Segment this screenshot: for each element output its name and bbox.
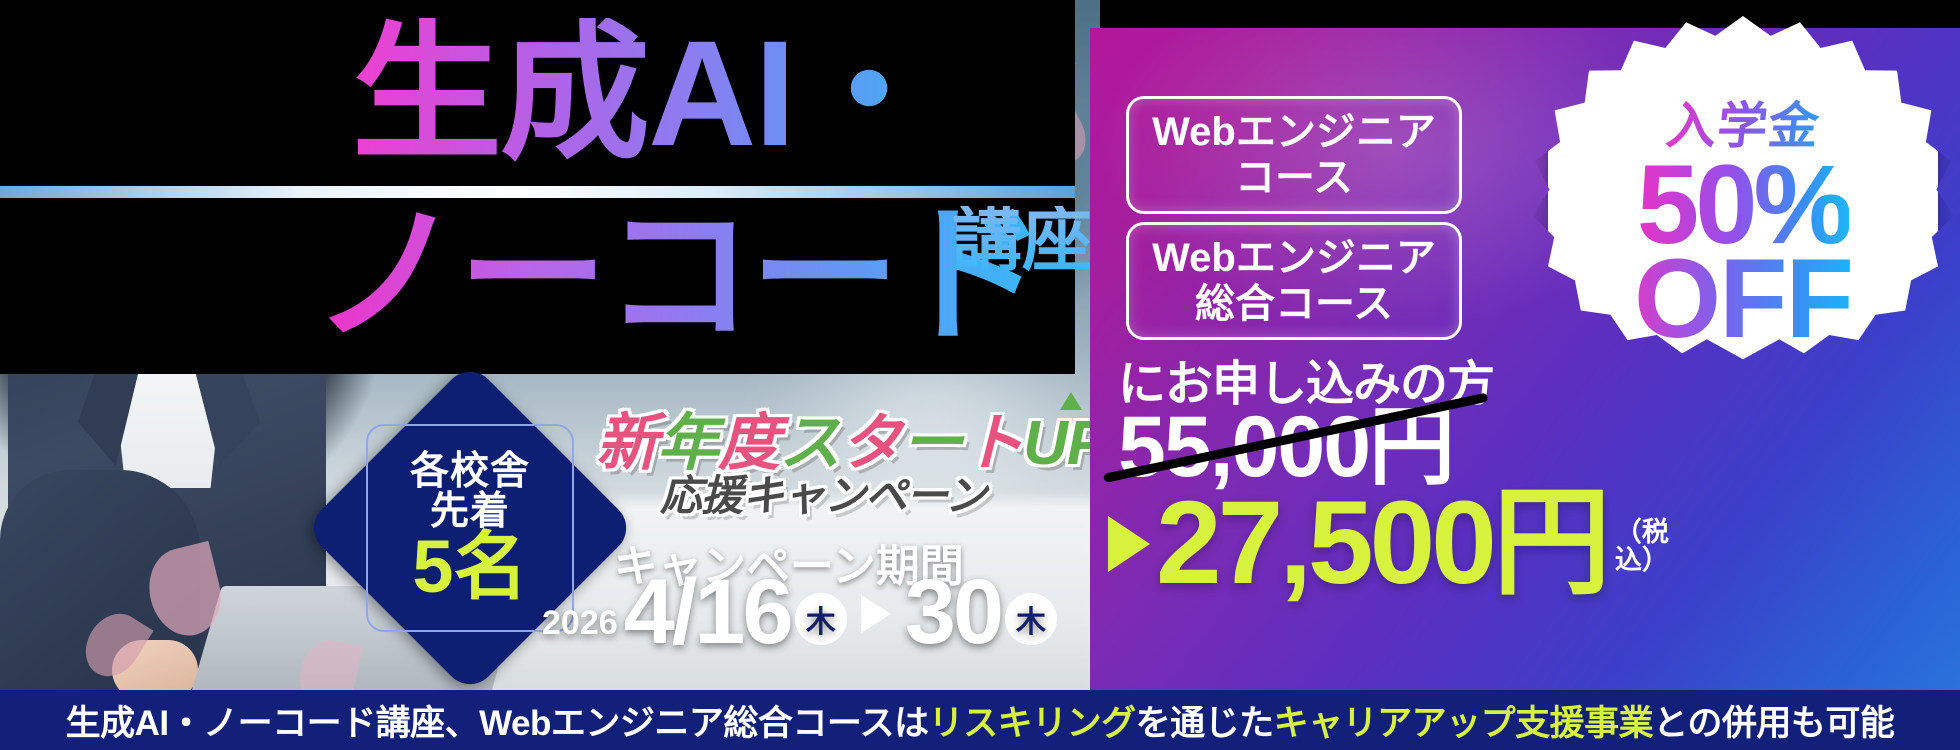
- footer-part2: を通じた: [1136, 704, 1274, 743]
- campaign-end-date: 30: [905, 570, 1001, 655]
- discount-starburst-badge: 入学金 50% OFF: [1548, 16, 1938, 406]
- footer-highlight2: キャリアアップ支援事業: [1274, 704, 1654, 743]
- course1-line2: コース: [1235, 156, 1353, 200]
- arrow-right-icon: [1108, 516, 1150, 572]
- campaign-end-dow: 木: [1005, 593, 1057, 645]
- course-option-web-engineer[interactable]: Webエンジニア コース: [1126, 96, 1462, 214]
- starburst-label: 入学金: [1663, 86, 1824, 158]
- tax-note: （税 込）: [1615, 519, 1669, 574]
- footer-part1: 生成AI・ノーコード講座、Webエンジニア総合コースは: [66, 704, 929, 743]
- course-option-web-engineer-comprehensive[interactable]: Webエンジニア 総合コース: [1126, 222, 1462, 340]
- course1-line1: Webエンジニア: [1152, 110, 1436, 154]
- campaign-start-dow: 木: [795, 593, 847, 645]
- footer-highlight1: リスキリング: [929, 704, 1136, 743]
- campaign-title-part-0: 新: [596, 392, 657, 482]
- campaign-subtitle: 応援キャンペーン: [660, 462, 986, 523]
- page-title-sublabel: 講座: [952, 206, 1092, 275]
- discounted-price: 27,500円: [1156, 490, 1607, 596]
- course2-line2: 総合コース: [1195, 282, 1393, 326]
- badge-count: 5名: [412, 530, 527, 604]
- page-title-line2: ノーコード: [312, 200, 1042, 350]
- arrow-right-icon: [861, 595, 891, 633]
- campaign-date-row: 2026 4/16 木 30 木: [542, 570, 1061, 655]
- starburst-text-group: 入学金 50% OFF: [1548, 16, 1938, 406]
- tax-note-line1: （税: [1615, 519, 1669, 547]
- campaign-year: 2026: [542, 604, 624, 655]
- campaign-start-date: 4/16: [624, 570, 791, 655]
- tax-note-line2: 込）: [1615, 547, 1669, 575]
- footer-part3: との併用も可能: [1653, 704, 1894, 743]
- discounted-price-row: 27,500円 （税 込）: [1108, 490, 1669, 596]
- starburst-off: OFF: [1634, 249, 1852, 350]
- footer-bar: 生成AI・ノーコード講座、Webエンジニア総合コースはリスキリングを通じたキャリ…: [0, 690, 1960, 750]
- page-title-line1: 生成AI・: [352, 18, 942, 168]
- course2-line1: Webエンジニア: [1152, 236, 1436, 280]
- badge-line1: 各校舎: [410, 452, 530, 492]
- promo-banner: 生成AI・ ノーコード 講座 各校舎 先着 5名 新年度スタートUP 応援キャン…: [0, 0, 1960, 750]
- footer-text: 生成AI・ノーコード講座、Webエンジニア総合コースはリスキリングを通じたキャリ…: [66, 695, 1895, 746]
